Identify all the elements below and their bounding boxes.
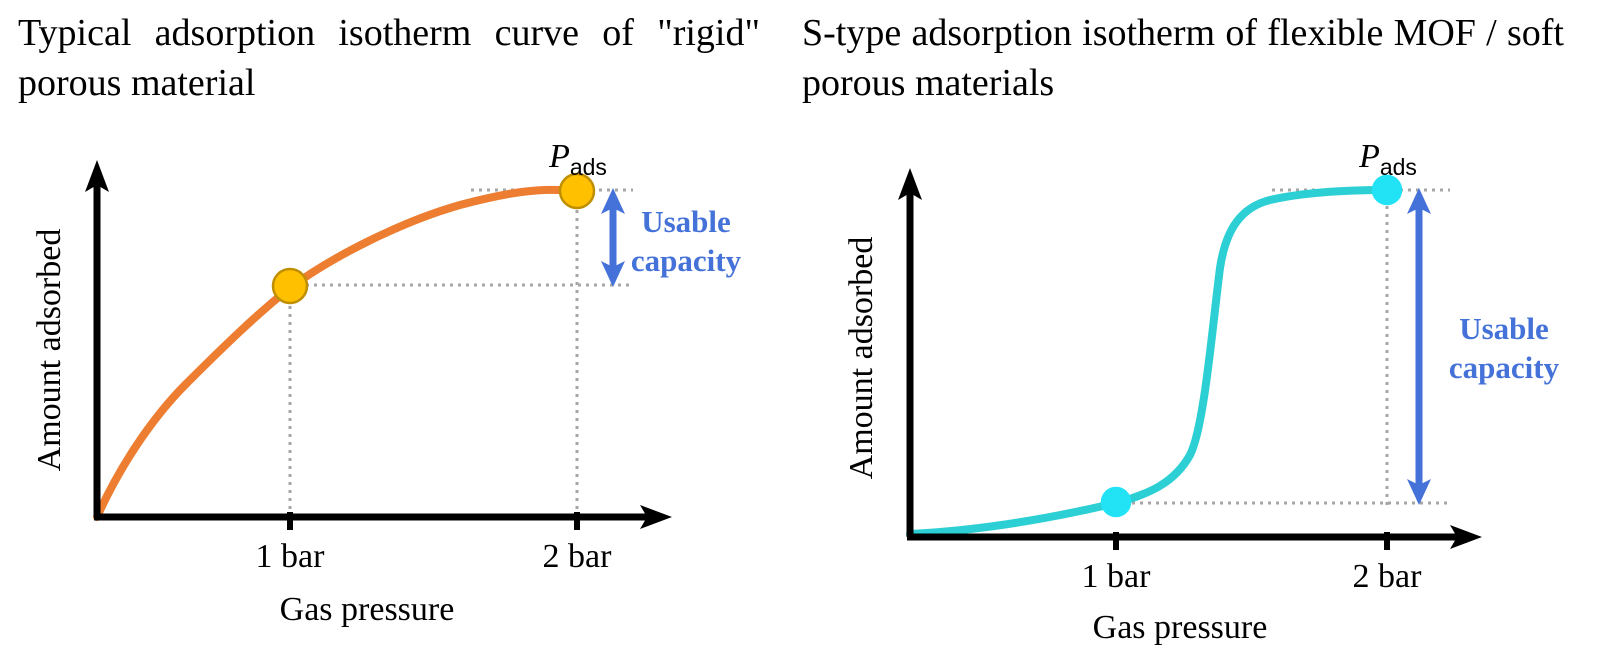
left-pads-subscript: ads	[570, 154, 607, 180]
isotherm-curve-flexible	[910, 190, 1387, 534]
right-tick-label-1bar: 1 bar	[1082, 558, 1152, 595]
isotherm-curve-rigid	[97, 190, 577, 517]
right-marker-1bar[interactable]	[1102, 488, 1130, 516]
left-pads-label: Pads	[548, 138, 607, 180]
left-marker-1bar[interactable]	[273, 269, 307, 303]
right-pads-main: P	[1358, 138, 1380, 175]
right-tick-label-2bar: 2 bar	[1353, 558, 1423, 595]
right-y-axis-label: Amount adsorbed	[843, 237, 880, 480]
panel-flexible-mof: S-type adsorption isotherm of flexible M…	[790, 0, 1599, 660]
adsorption-isotherm-figure: Typical adsorption isotherm curve of "ri…	[0, 0, 1599, 660]
right-pads-subscript: ads	[1380, 154, 1417, 180]
left-tick-label-1bar: 1 bar	[256, 538, 326, 575]
left-tick-label-2bar: 2 bar	[543, 538, 613, 575]
right-marker-2bar[interactable]	[1373, 176, 1401, 204]
left-chart-plot: 1 bar 2 bar Gas pressure Amount adsorbed…	[0, 0, 790, 660]
right-pads-label: Pads	[1358, 138, 1417, 180]
left-capacity-label-line2: capacity	[631, 243, 742, 278]
left-pads-main: P	[548, 138, 570, 175]
left-x-axis-label: Gas pressure	[280, 591, 455, 628]
right-x-axis-label: Gas pressure	[1093, 609, 1268, 646]
left-y-axis-label: Amount adsorbed	[31, 229, 68, 472]
right-capacity-label-line1: Usable	[1459, 311, 1549, 346]
right-capacity-label-line2: capacity	[1449, 350, 1560, 385]
right-chart-plot: 1 bar 2 bar Gas pressure Amount adsorbed…	[790, 0, 1599, 660]
left-capacity-label-line1: Usable	[641, 204, 731, 239]
panel-rigid-material: Typical adsorption isotherm curve of "ri…	[0, 0, 790, 660]
